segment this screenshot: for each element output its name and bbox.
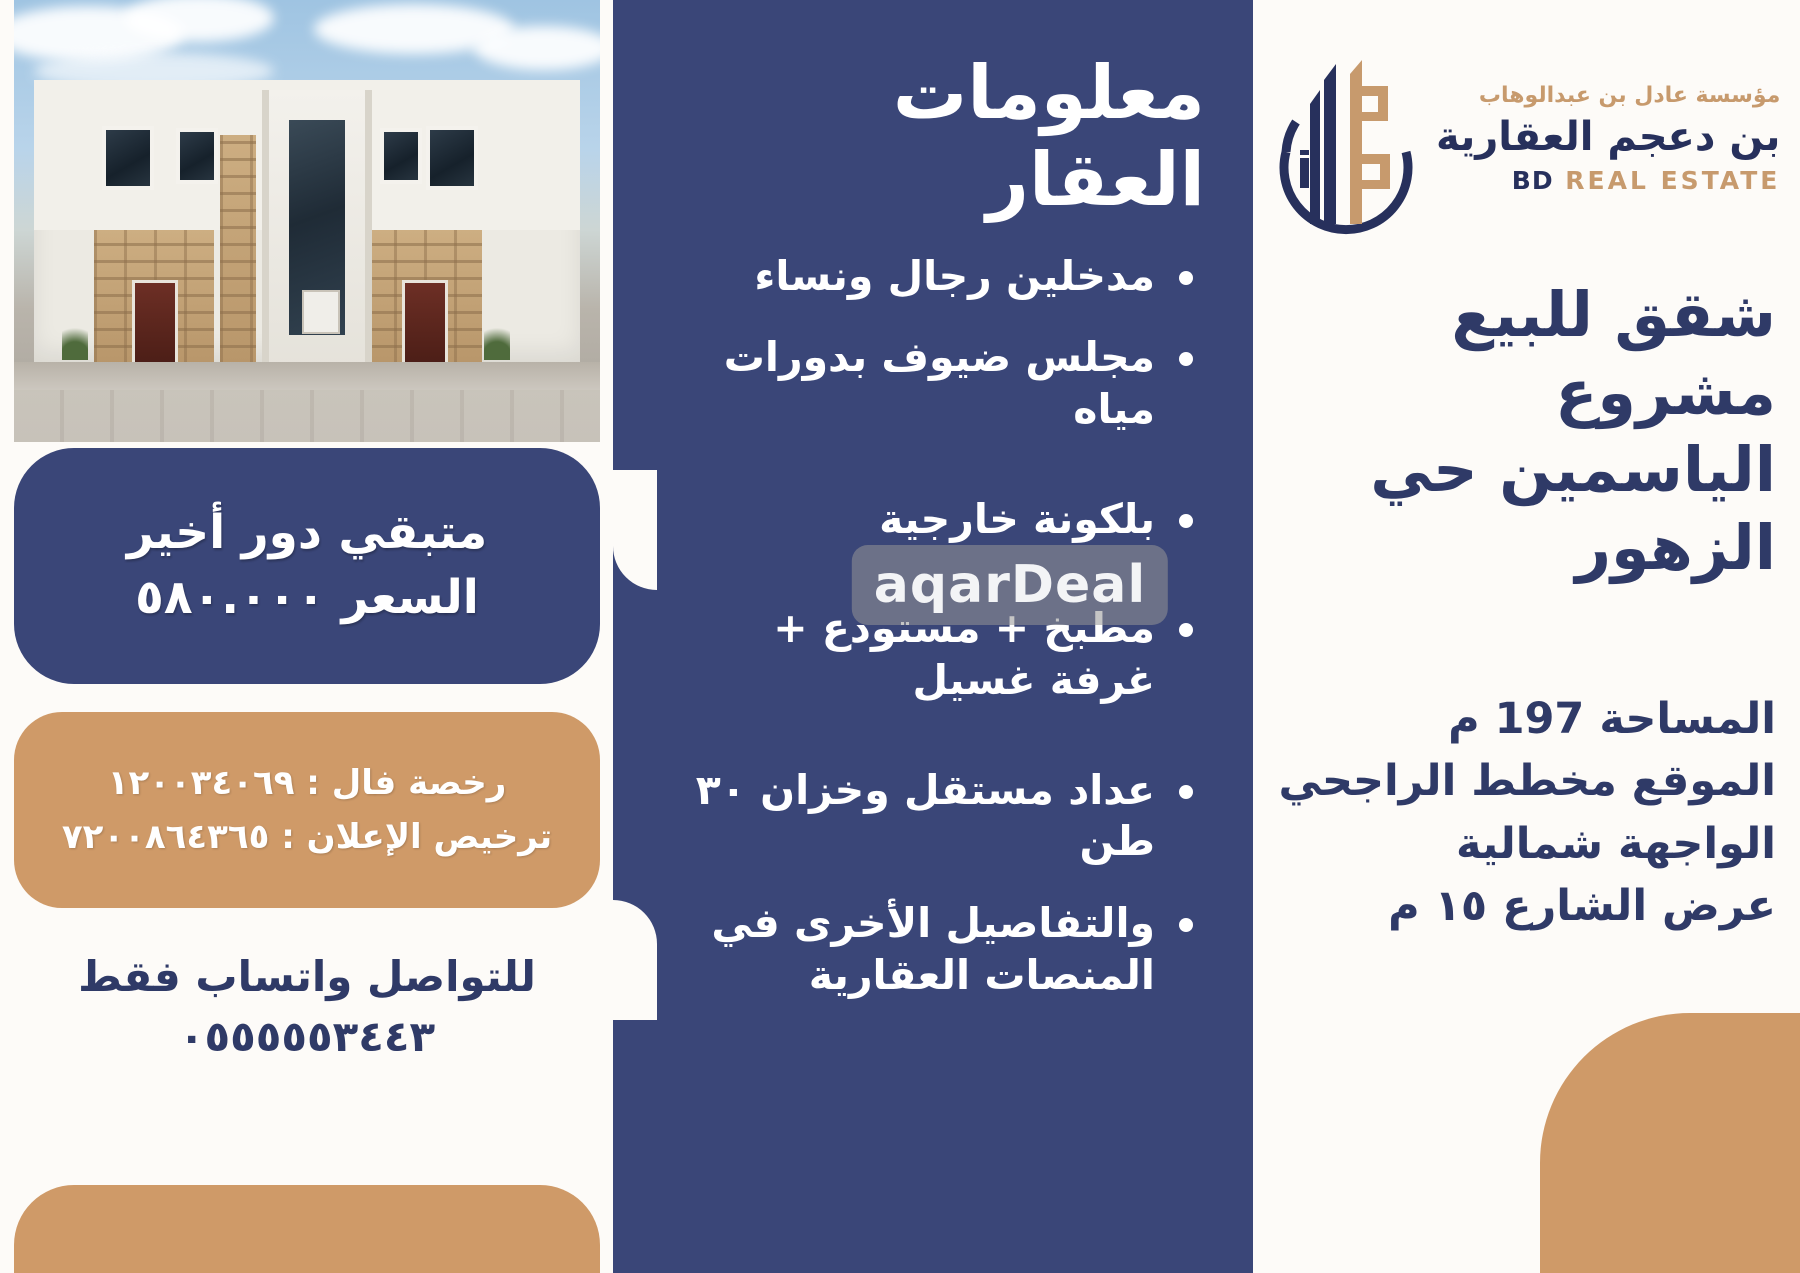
stone-cladding <box>220 135 256 365</box>
fal-license-number: رخصة فال : ١٢٠٠٣٤٠٦٩ <box>108 761 507 805</box>
ad-license-number: ترخيص الإعلان : ٧٢٠٠٨٦٤٣٦٥ <box>62 815 552 859</box>
decorative-bottom-shape <box>14 1185 600 1273</box>
entrance-door <box>132 280 178 371</box>
section-title: معلومات العقار <box>661 50 1205 225</box>
price-panel: متبقي دور أخير السعر ٥٨٠.٠٠٠ <box>14 448 600 684</box>
feature-item: مجلس ضيوف بدورات مياه <box>655 332 1197 435</box>
right-column: مؤسسة عادل بن عبدالوهاب بن دعجم العقارية… <box>1253 0 1800 1273</box>
central-tower <box>262 90 372 390</box>
feature-item: والتفاصيل الأخرى في المنصات العقارية <box>655 898 1197 1001</box>
detail-facade: الواجهة شمالية <box>1276 813 1776 875</box>
feature-item: مطبخ + مستودع + غرفة غسيل <box>655 603 1197 706</box>
license-panel: رخصة فال : ١٢٠٠٣٤٠٦٩ ترخيص الإعلان : ٧٢٠… <box>14 712 600 908</box>
real-estate-ad-poster: متبقي دور أخير السعر ٥٨٠.٠٠٠ رخصة فال : … <box>0 0 1800 1273</box>
price-value: السعر ٥٨٠.٠٠٠ <box>135 569 479 628</box>
ad-headline: شقق للبيع مشروع الياسمين حي الزهور <box>1276 276 1776 586</box>
feature-item: عداد مستقل وخزان ٣٠ طن <box>655 765 1197 868</box>
brand-name: بن دعجم العقارية <box>1436 114 1780 160</box>
feature-list: مدخلين رجال ونساء مجلس ضيوف بدورات مياه … <box>655 251 1211 1002</box>
detail-location: الموقع مخطط الراجحي <box>1276 750 1776 812</box>
left-column: متبقي دور أخير السعر ٥٨٠.٠٠٠ رخصة فال : … <box>0 0 600 1273</box>
contact-instruction: للتواصل واتساب فقط <box>14 950 600 1005</box>
decorative-corner-shape <box>1540 1013 1800 1273</box>
entrance-door <box>402 280 448 371</box>
availability-status: متبقي دور أخير <box>127 504 487 563</box>
middle-column: معلومات العقار مدخلين رجال ونساء مجلس ضي… <box>613 0 1253 1273</box>
detail-street-width: عرض الشارع ١٥ م <box>1276 875 1776 937</box>
window <box>102 126 154 190</box>
brand-latin-name: BD REAL ESTATE <box>1436 166 1780 195</box>
window <box>426 126 478 190</box>
contact-phone-number[interactable]: ٠٥٥٥٥٥٣٤٤٣ <box>14 1005 600 1068</box>
shrub <box>484 318 510 360</box>
ground-area <box>14 362 600 442</box>
brand-subtitle: مؤسسة عادل بن عبدالوهاب <box>1436 83 1780 109</box>
brand-header: مؤسسة عادل بن عبدالوهاب بن دعجم العقارية… <box>1270 16 1780 262</box>
feature-item: مدخلين رجال ونساء <box>655 251 1197 303</box>
window <box>176 128 218 184</box>
window <box>380 128 422 184</box>
company-logo-icon <box>1270 34 1422 244</box>
contact-panel: للتواصل واتساب فقط ٠٥٥٥٥٥٣٤٤٣ <box>14 950 600 1068</box>
feature-item: بلكونة خارجية <box>655 494 1197 546</box>
brand-latin-initials: BD <box>1512 166 1554 195</box>
shrub <box>62 318 88 360</box>
detail-area: المساحة 197 م <box>1276 688 1776 750</box>
property-details-list: المساحة 197 م الموقع مخطط الراجحي الواجه… <box>1276 688 1776 937</box>
property-photo <box>14 0 600 442</box>
brand-latin-words: REAL ESTATE <box>1565 166 1780 195</box>
cloud-shape <box>474 26 600 70</box>
brand-text-block: مؤسسة عادل بن عبدالوهاب بن دعجم العقارية… <box>1432 83 1780 194</box>
paving <box>14 390 600 442</box>
for-sale-sign <box>302 290 340 334</box>
